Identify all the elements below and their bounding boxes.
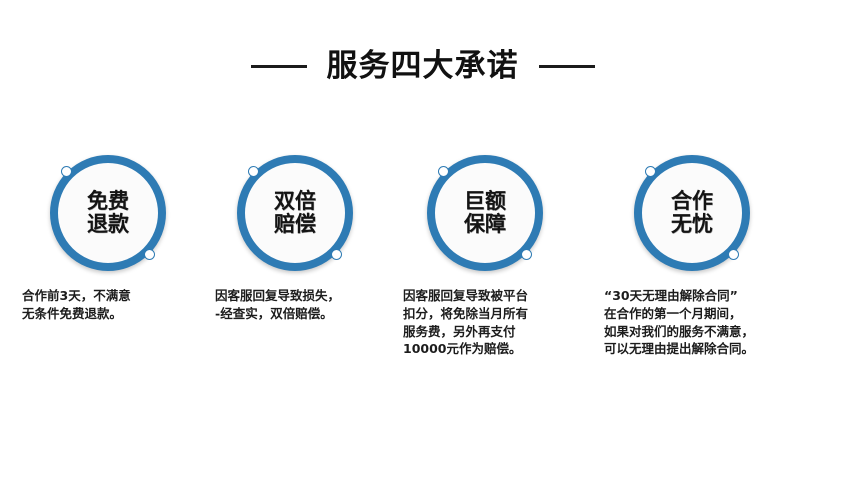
promise-badge-1: 免费 退款: [50, 155, 166, 271]
slide-title-row: 服务四大承诺: [0, 44, 845, 88]
promise-description-4: “30天无理由解除合同” 在合作的第一个月期间， 如果对我们的服务不满意， 可以…: [590, 287, 790, 358]
title-dash-right-icon: [539, 65, 595, 68]
promise-list: 免费 退款 合作前3天，不满意 无条件免费退款。 双倍 赔偿 因客服回复导致损失…: [0, 155, 845, 405]
promise-badge-line1: 免费: [87, 190, 129, 213]
promise-badge-label-3: 巨额 保障: [427, 155, 543, 271]
promise-badge-3: 巨额 保障: [427, 155, 543, 271]
promise-badge-label-4: 合作 无忧: [634, 155, 750, 271]
promise-description-3: 因客服回复导致被平台 扣分，将免除当月所有 服务费，另外再支付 10000元作为…: [385, 287, 585, 358]
promise-badge-4: 合作 无忧: [634, 155, 750, 271]
promise-item-4: 合作 无忧 “30天无理由解除合同” 在合作的第一个月期间， 如果对我们的服务不…: [590, 155, 790, 358]
promise-badge-label-1: 免费 退款: [50, 155, 166, 271]
promise-badge-line2: 无忧: [671, 213, 713, 236]
promise-description-2: 因客服回复导致损失， -经查实，双倍赔偿。: [197, 287, 397, 323]
promise-badge-2: 双倍 赔偿: [237, 155, 353, 271]
title-dash-left-icon: [251, 65, 307, 68]
promise-description-1: 合作前3天，不满意 无条件免费退款。: [12, 287, 212, 323]
promise-badge-line2: 赔偿: [274, 213, 316, 236]
promise-item-1: 免费 退款 合作前3天，不满意 无条件免费退款。: [12, 155, 212, 323]
promise-badge-line2: 退款: [87, 213, 129, 236]
page-title: 服务四大承诺: [327, 51, 519, 82]
promise-badge-label-2: 双倍 赔偿: [237, 155, 353, 271]
promise-badge-line1: 巨额: [464, 190, 506, 213]
promise-badge-line2: 保障: [464, 213, 506, 236]
promise-item-3: 巨额 保障 因客服回复导致被平台 扣分，将免除当月所有 服务费，另外再支付 10…: [385, 155, 585, 358]
promise-badge-line1: 双倍: [274, 190, 316, 213]
promise-item-2: 双倍 赔偿 因客服回复导致损失， -经查实，双倍赔偿。: [197, 155, 397, 323]
promise-badge-line1: 合作: [671, 190, 713, 213]
